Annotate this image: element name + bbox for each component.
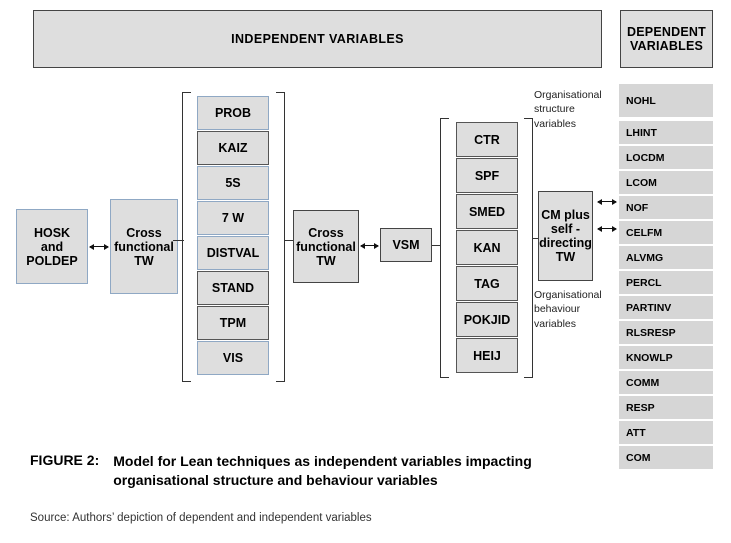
box-cross-functional-tw-left: Cross functional TW <box>110 199 178 294</box>
technique-label: SPF <box>475 169 499 183</box>
technique-label: CTR <box>474 133 500 147</box>
dependent-variable-label: CELFM <box>626 227 662 239</box>
dependent-variable-label: COMM <box>626 377 659 389</box>
dependent-variable-label: RLSRESP <box>626 327 676 339</box>
banner-independent-label: INDEPENDENT VARIABLES <box>231 32 404 46</box>
dependent-variable-label: LOCDM <box>626 152 665 164</box>
technique-label: KAIZ <box>218 141 247 155</box>
dependent-variable-nohl: NOHL <box>619 84 713 117</box>
box-cm-line1: CM plus <box>541 208 590 222</box>
box-hosk-line1: HOSK <box>34 226 70 240</box>
technique-box-pokjid: POKJID <box>456 302 518 337</box>
technique-box-kan: KAN <box>456 230 518 265</box>
dependent-variable-label: LHINT <box>626 127 657 139</box>
technique-box-spf: SPF <box>456 158 518 193</box>
technique-box-vis: VIS <box>197 341 269 375</box>
box-crossfun2-line2: functional <box>296 240 356 254</box>
dependent-variable-resp: RESP <box>619 396 713 419</box>
note-structure-line3: variables <box>534 117 624 131</box>
box-cm-plus-self-directing-tw: CM plus self - directing TW <box>538 191 593 281</box>
dependent-variable-locdm: LOCDM <box>619 146 713 169</box>
technique-box-tag: TAG <box>456 266 518 301</box>
dependent-variable-rlsresp: RLSRESP <box>619 321 713 344</box>
technique-label: SMED <box>469 205 505 219</box>
note-organisational-behaviour-variables: Organisational behaviour variables <box>534 288 624 331</box>
technique-box-tpm: TPM <box>197 306 269 340</box>
technique-box-smed: SMED <box>456 194 518 229</box>
box-hosk-line2: and <box>41 240 63 254</box>
dependent-variable-comm: COMM <box>619 371 713 394</box>
note-behaviour-line3: variables <box>534 317 624 331</box>
box-vsm: VSM <box>380 228 432 262</box>
technique-stack-group2: CTRSPFSMEDKANTAGPOKJIDHEIJ <box>456 122 518 374</box>
box-cm-line2: self - <box>551 222 580 236</box>
figure-diagram: INDEPENDENT VARIABLES DEPENDENT VARIABLE… <box>0 0 731 543</box>
bracket-group1-left <box>182 92 191 382</box>
dependent-variable-label: PARTINV <box>626 302 671 314</box>
bracket-group1-left-stub <box>173 240 183 241</box>
dependent-variable-lcom: LCOM <box>619 171 713 194</box>
technique-box-stand: STAND <box>197 271 269 305</box>
technique-label: HEIJ <box>473 349 501 363</box>
technique-label: 7 W <box>222 211 244 225</box>
technique-box-distval: DISTVAL <box>197 236 269 270</box>
technique-box-ctr: CTR <box>456 122 518 157</box>
technique-label: VIS <box>223 351 243 365</box>
technique-label: STAND <box>212 281 254 295</box>
technique-box-7-w: 7 W <box>197 201 269 235</box>
box-crossfun1-line1: Cross <box>126 226 161 240</box>
dependent-variable-label: NOF <box>626 202 648 214</box>
technique-box-kaiz: KAIZ <box>197 131 269 165</box>
note-structure-line2: structure <box>534 102 624 116</box>
caption-label: FIGURE 2: <box>30 452 99 468</box>
box-hosk-poldep: HOSK and POLDEP <box>16 209 88 284</box>
dependent-variable-label: ALVMG <box>626 252 663 264</box>
technique-label: DISTVAL <box>207 246 260 260</box>
dependent-variable-label: PERCL <box>626 277 662 289</box>
source-note: Source: Authors’ depiction of dependent … <box>30 512 372 524</box>
arrow-cm-to-alvmg <box>598 228 616 229</box>
technique-box-5s: 5S <box>197 166 269 200</box>
box-crossfun2-line1: Cross <box>308 226 343 240</box>
dependent-variable-partinv: PARTINV <box>619 296 713 319</box>
dependent-variable-att: ATT <box>619 421 713 444</box>
caption-line2: organisational structure and behaviour v… <box>113 471 532 490</box>
dependent-variable-celfm: CELFM <box>619 221 713 244</box>
technique-label: 5S <box>225 176 240 190</box>
bracket-group1-right <box>276 92 285 382</box>
box-crossfun1-line3: TW <box>134 254 153 268</box>
dependent-variable-label: NOHL <box>626 95 656 107</box>
bracket-group2-left <box>440 118 449 378</box>
technique-box-prob: PROB <box>197 96 269 130</box>
figure-caption: FIGURE 2: Model for Lean techniques as i… <box>30 452 700 491</box>
arrow-crossfunctional-to-vsm <box>361 245 378 246</box>
dependent-variable-alvmg: ALVMG <box>619 246 713 269</box>
note-behaviour-line1: Organisational <box>534 288 624 302</box>
note-structure-line1: Organisational <box>534 88 624 102</box>
technique-box-heij: HEIJ <box>456 338 518 373</box>
arrow-cm-to-celfm <box>598 201 616 202</box>
technique-label: PROB <box>215 106 251 120</box>
box-cm-line3: directing <box>539 236 592 250</box>
box-crossfun1-line2: functional <box>114 240 174 254</box>
technique-label: TPM <box>220 316 246 330</box>
banner-dependent-label-line1: DEPENDENT <box>627 25 706 39</box>
caption-line1: Model for Lean techniques as independent… <box>113 452 532 471</box>
banner-independent-variables: INDEPENDENT VARIABLES <box>33 10 602 68</box>
dependent-variable-percl: PERCL <box>619 271 713 294</box>
technique-label: KAN <box>473 241 500 255</box>
dependent-variable-label: ATT <box>626 427 646 439</box>
box-hosk-line3: POLDEP <box>26 254 77 268</box>
box-cm-line4: TW <box>556 250 575 264</box>
dependent-variable-label: LCOM <box>626 177 657 189</box>
box-cross-functional-tw-right: Cross functional TW <box>293 210 359 283</box>
arrow-hosk-to-crossfunctional <box>90 246 108 247</box>
box-crossfun2-line3: TW <box>316 254 335 268</box>
caption-text: Model for Lean techniques as independent… <box>113 452 532 491</box>
dependent-variable-label: RESP <box>626 402 655 414</box>
dependent-variable-knowlp: KNOWLP <box>619 346 713 369</box>
banner-dependent-label-line2: VARIABLES <box>630 39 703 53</box>
dependent-variable-nof: NOF <box>619 196 713 219</box>
note-organisational-structure-variables: Organisational structure variables <box>534 88 624 131</box>
technique-label: POKJID <box>464 313 511 327</box>
dependent-variable-label: KNOWLP <box>626 352 673 364</box>
technique-stack-group1: PROBKAIZ5S7 WDISTVALSTANDTPMVIS <box>197 96 269 376</box>
dependent-variable-lhint: LHINT <box>619 121 713 144</box>
banner-dependent-variables: DEPENDENT VARIABLES <box>620 10 713 68</box>
technique-label: TAG <box>474 277 499 291</box>
dependent-variable-list: NOHLLHINTLOCDMLCOMNOFCELFMALVMGPERCLPART… <box>619 84 713 471</box>
bracket-group2-right <box>524 118 533 378</box>
note-behaviour-line2: behaviour <box>534 302 624 316</box>
box-vsm-label: VSM <box>392 238 419 252</box>
